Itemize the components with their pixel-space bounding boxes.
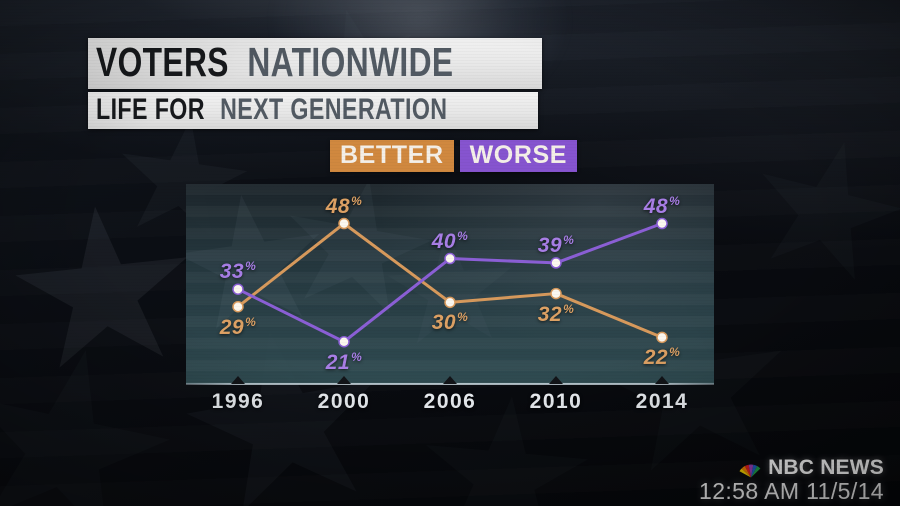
- chart-value-label-worse-2010: 39%: [538, 233, 575, 258]
- chart-x-label-2010: 2010: [530, 390, 583, 414]
- chart-value-label-better-2006: 30%: [432, 310, 469, 335]
- chart-panel: [186, 184, 714, 384]
- chart-value-label-better-2000: 48%: [326, 194, 363, 219]
- headline-line-1-secondary: NATIONWIDE: [247, 42, 453, 83]
- broadcast-timestamp: 12:58 AM 11/5/14: [699, 478, 884, 505]
- chart-point-worse-2000: [339, 337, 349, 347]
- chart-x-label-1996: 1996: [212, 390, 265, 414]
- chart-point-better-2014: [657, 332, 667, 342]
- headline-block: VOTERS NATIONWIDE LIFE FOR NEXT GENERATI…: [88, 38, 900, 129]
- chart-point-worse-2006: [445, 254, 455, 264]
- legend-item-worse: WORSE: [460, 140, 577, 172]
- chart-value-label-better-2010: 32%: [538, 302, 575, 327]
- network-name: NBC NEWS: [768, 456, 884, 480]
- chart-legend: BETTER WORSE: [330, 140, 577, 172]
- broadcast-screen: VOTERS NATIONWIDE LIFE FOR NEXT GENERATI…: [0, 0, 900, 506]
- chart-point-better-2006: [445, 297, 455, 307]
- chart-x-label-2014: 2014: [636, 390, 689, 414]
- headline-line-2-primary: LIFE FOR: [96, 95, 205, 125]
- legend-item-better: BETTER: [330, 140, 454, 172]
- headline-line-2: LIFE FOR NEXT GENERATION: [88, 92, 538, 129]
- chart-x-label-2006: 2006: [424, 390, 477, 414]
- chart-point-better-2010: [551, 289, 561, 299]
- chart-value-label-worse-2000: 21%: [326, 350, 363, 375]
- chart-x-tick: [231, 376, 245, 384]
- network-bug: NBC NEWS: [739, 456, 884, 480]
- chart-point-better-2000: [339, 219, 349, 229]
- chart-x-label-2000: 2000: [318, 390, 371, 414]
- chart-value-label-better-2014: 22%: [644, 345, 681, 370]
- headline-line-1-primary: VOTERS: [96, 42, 229, 83]
- chart-point-worse-1996: [233, 284, 243, 294]
- chart-point-better-1996: [233, 302, 243, 312]
- chart-x-tick: [443, 376, 457, 384]
- chart-value-label-worse-1996: 33%: [220, 259, 257, 284]
- headline-line-1: VOTERS NATIONWIDE: [88, 38, 542, 89]
- chart-x-tick: [655, 376, 669, 384]
- chart-point-worse-2010: [551, 258, 561, 268]
- chart-x-tick: [549, 376, 563, 384]
- nbc-peacock-icon: [739, 459, 763, 478]
- chart-series-svg: [186, 184, 714, 384]
- chart-point-worse-2014: [657, 219, 667, 229]
- headline-line-2-secondary: NEXT GENERATION: [220, 95, 447, 125]
- chart-value-label-worse-2014: 48%: [644, 194, 681, 219]
- chart-x-tick: [337, 376, 351, 384]
- chart-value-label-worse-2006: 40%: [432, 229, 469, 254]
- chart-value-label-better-1996: 29%: [220, 315, 257, 340]
